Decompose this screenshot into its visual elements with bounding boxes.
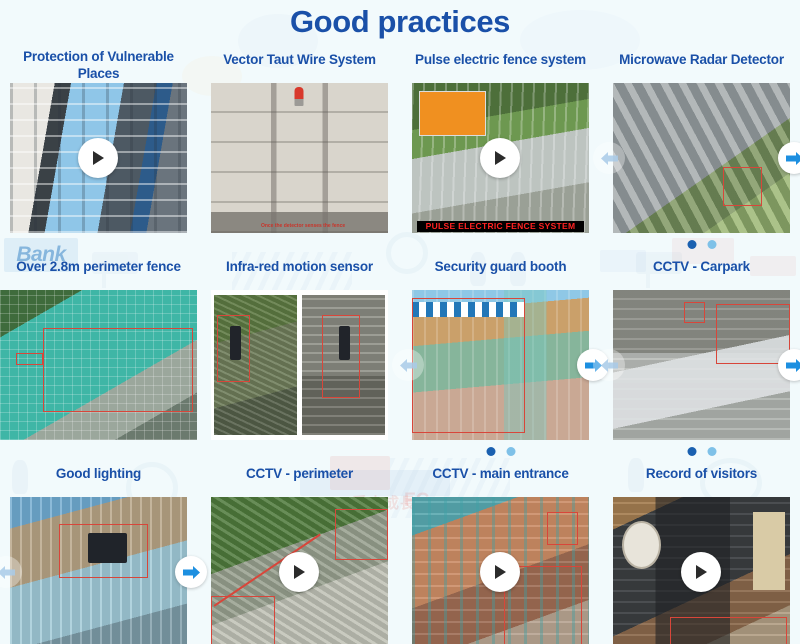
practice-media[interactable]: Once the detector senses the fence [201,83,398,233]
practice-label: Infra-red motion sensor [205,254,394,290]
practice-label: Microwave Radar Detector [607,47,796,83]
photo-infra-red-motion-sensor-left [214,295,297,435]
annotation-box [16,353,44,365]
practice-media[interactable] [0,290,197,440]
practice-label: Pulse electric fence system [406,47,595,83]
photo-frame [613,290,790,440]
pagination-dot-active[interactable] [687,240,696,249]
photo-frame [412,497,589,644]
pagination-dot-active[interactable] [486,447,495,456]
practice-card[interactable]: Over 2.8m perimeter fence [0,254,197,461]
photo-cctv-carpark [613,290,790,440]
pagination-dot[interactable] [506,447,515,456]
practice-card[interactable]: Good lighting [0,461,197,644]
carousel-prev-arrow-icon[interactable] [392,349,424,381]
practice-card[interactable]: Infra-red motion sensor [201,254,398,461]
photo-good-lighting [10,497,187,644]
pagination-dot[interactable] [707,240,716,249]
practice-media[interactable] [603,83,800,233]
play-icon[interactable] [279,552,319,592]
photo-security-guard-booth [412,290,589,440]
photo-frame [613,83,790,233]
photo-frame [613,497,790,644]
photo-over-2-8m-perimeter-fence [0,290,197,440]
photo-pair [211,290,388,440]
photo-frame [211,497,388,644]
photo-frame [0,290,197,440]
carousel-pagination-dots[interactable] [687,240,716,249]
practice-media[interactable] [603,290,800,440]
practice-card[interactable]: Security guard booth [402,254,599,461]
annotation-box [723,167,762,206]
practice-card[interactable]: Record of visitors [603,461,800,644]
practice-media[interactable]: PULSE ELECTRIC FENCE SYSTEM [402,83,599,233]
practice-media[interactable] [0,83,197,233]
practice-card[interactable]: Protection of Vulnerable Places [0,47,197,254]
practice-card[interactable]: CCTV - Carpark [603,254,800,461]
good-practices-grid: Protection of Vulnerable Places Vector T… [0,47,800,644]
practice-media[interactable] [402,497,599,644]
carousel-pagination-dots[interactable] [486,447,515,456]
photo-frame: PULSE ELECTRIC FENCE SYSTEM [412,83,589,233]
practice-card[interactable]: CCTV - main entrance [402,461,599,644]
play-icon[interactable] [480,138,520,178]
practice-label: CCTV - perimeter [205,461,394,497]
practice-label: Good lighting [4,461,193,497]
photo-frame [10,497,187,644]
practice-label: Protection of Vulnerable Places [4,47,193,83]
practice-media[interactable] [0,497,197,644]
carousel-next-arrow-icon[interactable] [175,556,207,588]
carousel-prev-arrow-icon[interactable] [593,349,625,381]
practice-label: Record of visitors [607,461,796,497]
photo-caption: Once the detector senses the fence [232,223,374,229]
photo-frame [412,290,589,440]
carousel-pagination-dots[interactable] [687,447,716,456]
practice-label: Over 2.8m perimeter fence [4,254,193,290]
notice-poster-graphic [753,512,785,590]
practice-card[interactable]: CCTV - perimeter [201,461,398,644]
photo-frame [211,290,388,440]
practice-label: CCTV - main entrance [406,461,595,497]
annotation-box [684,302,705,323]
play-icon[interactable] [480,552,520,592]
annotation-box [211,596,275,644]
photo-infra-red-motion-sensor-right [302,295,385,435]
practice-media[interactable] [402,290,599,440]
practice-card[interactable]: Microwave Radar Detector [603,47,800,254]
page-title: Good practices [0,0,800,42]
warning-sign-graphic [419,91,486,136]
pagination-dot[interactable] [707,447,716,456]
practice-media[interactable] [201,497,398,644]
pagination-dot-active[interactable] [687,447,696,456]
photo-frame: Once the detector senses the fence [211,83,388,233]
annotation-box [59,524,148,578]
annotation-box [412,298,525,433]
annotation-box [322,315,360,399]
practice-label: Vector Taut Wire System [205,47,394,83]
photo-vector-taut-wire-system: Once the detector senses the fence [211,83,388,233]
annotation-box [217,315,250,382]
annotation-box [547,512,579,545]
photo-frame [10,83,187,233]
annotation-box [335,509,388,560]
photo-caption: PULSE ELECTRIC FENCE SYSTEM [417,221,584,232]
wall-clock-graphic [622,521,661,569]
practice-label: Security guard booth [406,254,595,290]
annotation-box [43,328,193,412]
practice-media[interactable] [603,497,800,644]
practice-card[interactable]: Pulse electric fence system PULSE ELECTR… [402,47,599,254]
carousel-prev-arrow-icon[interactable] [593,142,625,174]
practice-card[interactable]: Vector Taut Wire System Once the detecto… [201,47,398,254]
photo-microwave-radar-detector [613,83,790,233]
alarm-lamp-graphic [295,87,304,106]
play-icon[interactable] [78,138,118,178]
annotation-box [716,304,790,364]
play-icon[interactable] [681,552,721,592]
practice-media[interactable] [201,290,398,440]
practice-label: CCTV - Carpark [607,254,796,290]
annotation-box [670,617,787,644]
